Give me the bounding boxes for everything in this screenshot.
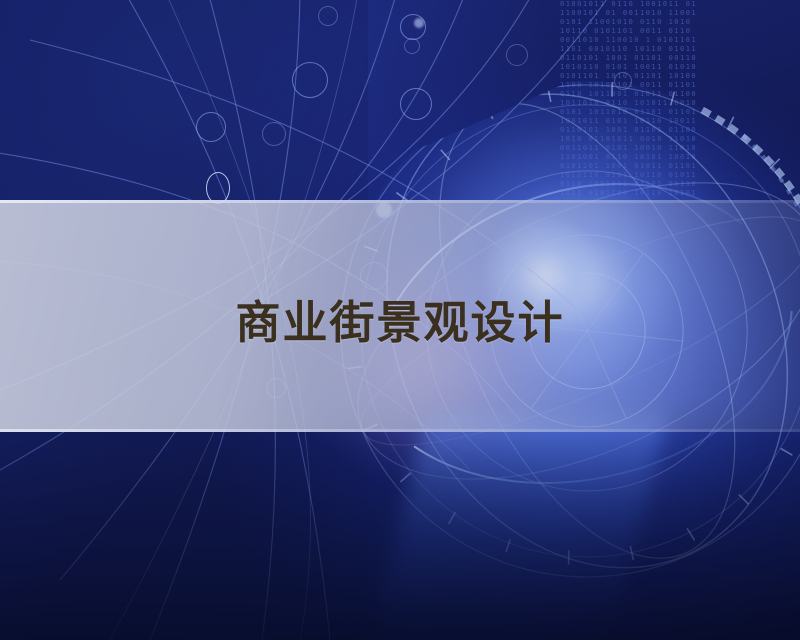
bubble-ring bbox=[404, 38, 420, 54]
bubble-ring bbox=[292, 62, 328, 98]
bubble-ring bbox=[614, 72, 632, 90]
title-band-top-edge bbox=[0, 200, 800, 203]
bubble-ring bbox=[506, 44, 528, 66]
bubble-ring bbox=[196, 112, 226, 142]
title-band-bottom-edge bbox=[0, 429, 800, 432]
slide-title: 商业街景观设计 bbox=[0, 286, 800, 351]
slide-canvas: 01001011 0110 1001011 01 1100101 01 0011… bbox=[0, 0, 800, 640]
light-dot bbox=[414, 18, 424, 28]
bubble-ring bbox=[400, 14, 426, 40]
bubble-ring bbox=[400, 88, 432, 120]
background-bottom-shade bbox=[0, 397, 800, 640]
bubble-ring bbox=[262, 122, 286, 146]
bubble-ring bbox=[318, 6, 338, 26]
